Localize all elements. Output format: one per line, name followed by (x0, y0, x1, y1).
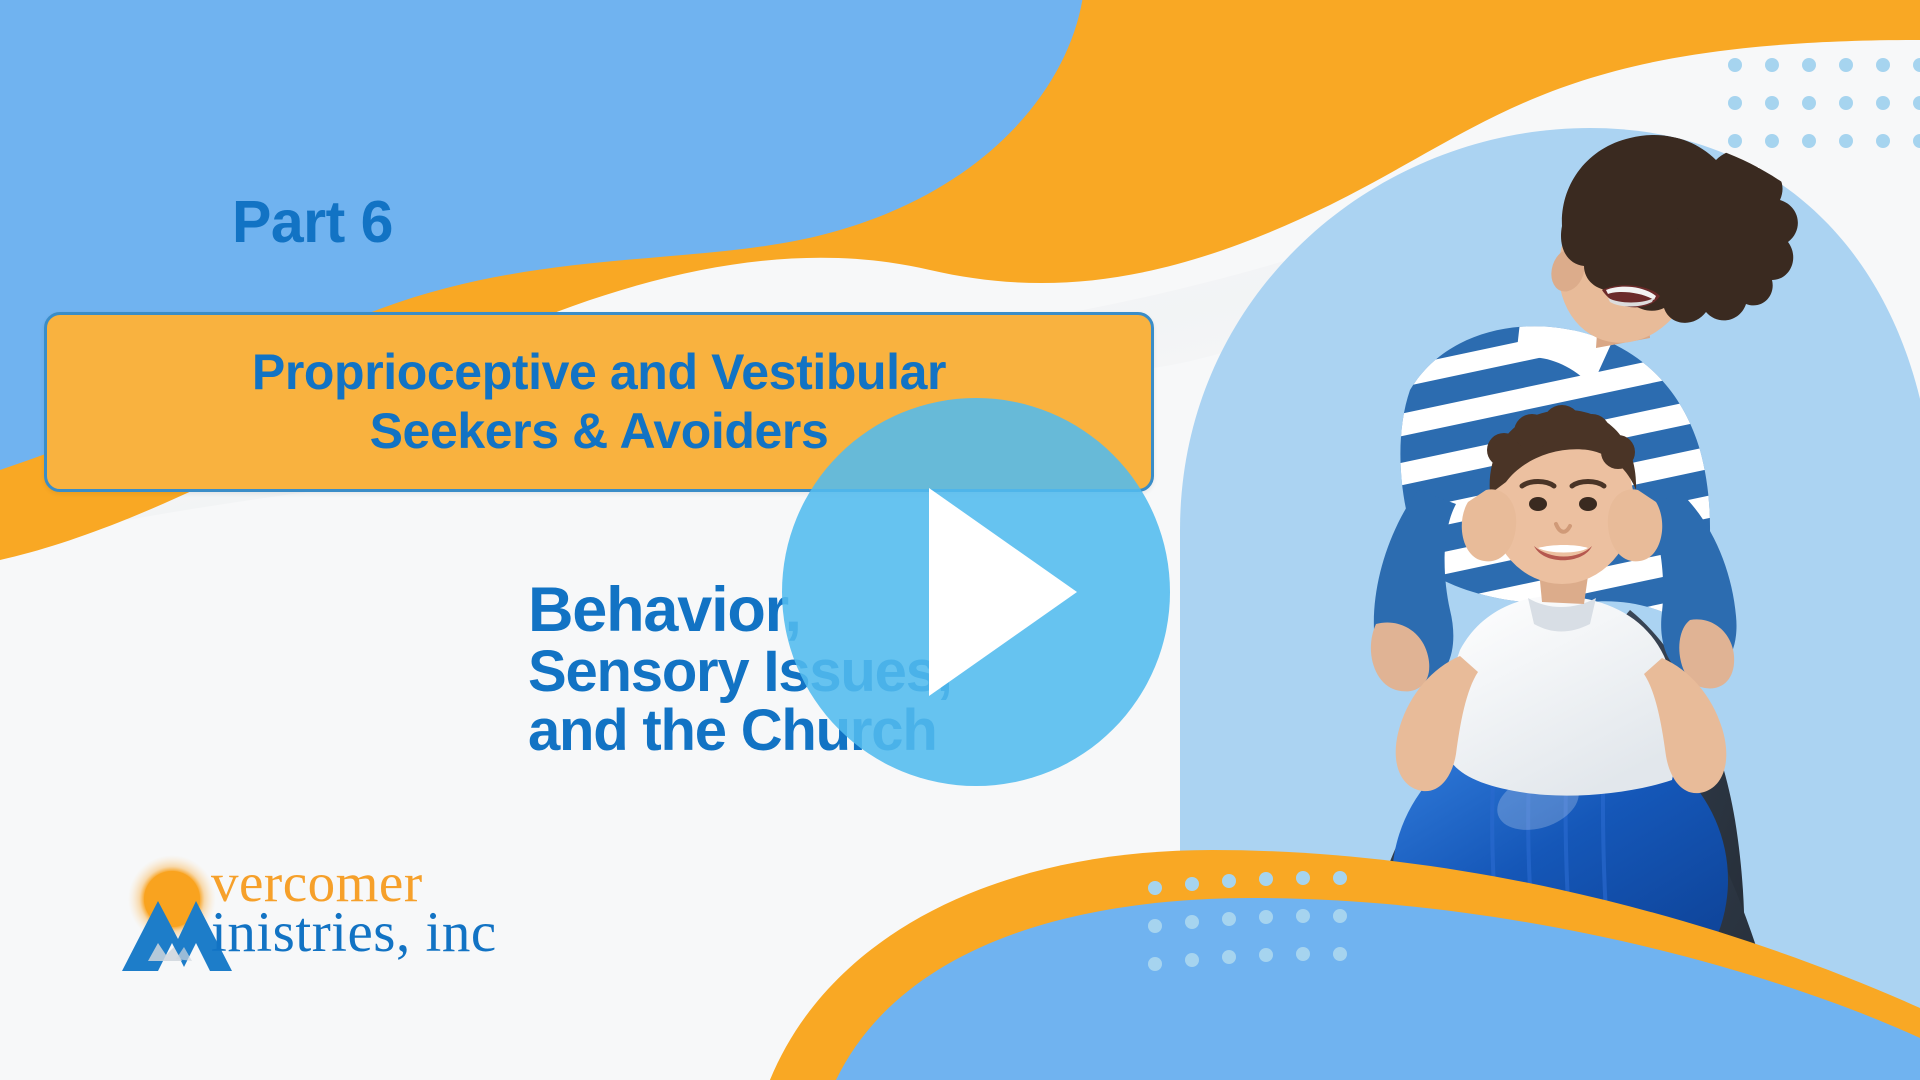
hero-photo (1160, 90, 1920, 1080)
slide-title-line-2: Seekers & Avoiders (370, 402, 829, 461)
logo-wordmark-line-2: inistries, inc (211, 906, 497, 961)
logo-wordmark: vercomer inistries, inc (211, 857, 497, 961)
part-label: Part 6 (232, 188, 393, 256)
hero-photo-illustration (1160, 90, 1920, 1080)
slide-canvas: Part 6 Proprioceptive and Vestibular See… (0, 0, 1920, 1080)
sneaker-right (1704, 1020, 1819, 1080)
slide-title-line-1: Proprioceptive and Vestibular (252, 343, 946, 402)
overcomer-ministries-logo: vercomer inistries, inc (118, 855, 618, 980)
play-triangle-icon[interactable] (929, 488, 1077, 696)
sneaker-left (1297, 1020, 1412, 1080)
